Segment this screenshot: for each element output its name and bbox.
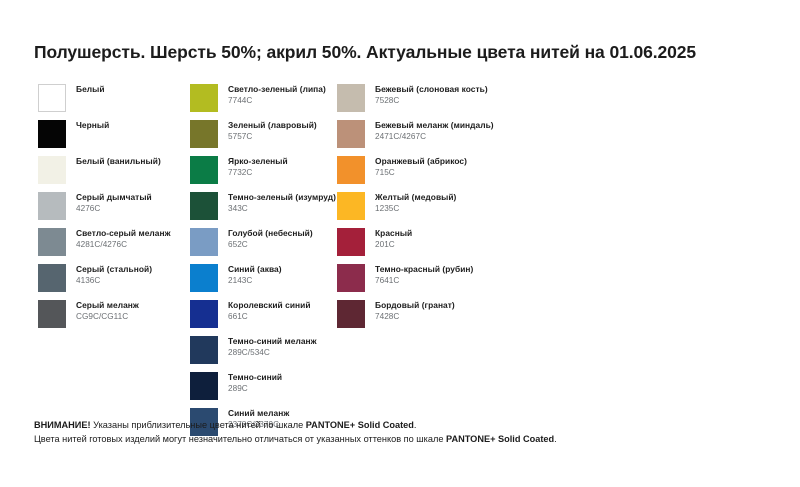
disclaimer-line-1-text: Указаны приблизительные цвета нитей по ш… (91, 420, 306, 430)
color-name: Белый (76, 85, 105, 95)
color-code: 289C/534C (228, 348, 317, 358)
color-labels: Королевский синий661C (228, 300, 311, 322)
color-code: 4136C (76, 276, 152, 286)
color-swatch (190, 156, 218, 184)
color-row: Бежевый (слоновая кость)7528C (337, 84, 494, 120)
page-title: Полушерсть. Шерсть 50%; акрил 50%. Актуа… (34, 42, 696, 63)
color-name: Желтый (медовый) (375, 193, 456, 203)
color-swatch (337, 264, 365, 292)
color-labels: Бежевый меланж (миндаль)2471C/4267C (375, 120, 494, 142)
color-name: Серый (стальной) (76, 265, 152, 275)
color-code: 7428C (375, 312, 455, 322)
color-row: Оранжевый (абрикос)715C (337, 156, 494, 192)
disclaimer-line-1: ВНИМАНИЕ! Указаны приблизительные цвета … (34, 418, 557, 432)
color-swatch (190, 192, 218, 220)
color-code: 7528C (375, 96, 488, 106)
color-labels: Черный (76, 120, 109, 131)
disclaimer: ВНИМАНИЕ! Указаны приблизительные цвета … (34, 418, 557, 447)
color-row: Темно-синий меланж289C/534C (190, 336, 336, 372)
color-code: 1235C (375, 204, 456, 214)
color-swatch (337, 300, 365, 328)
color-labels: Темно-зеленый (изумруд)343C (228, 192, 336, 214)
color-swatch (190, 120, 218, 148)
color-name: Бежевый (слоновая кость) (375, 85, 488, 95)
color-labels: Голубой (небесный)652C (228, 228, 313, 250)
color-row: Серый (стальной)4136C (38, 264, 171, 300)
color-row: Бордовый (гранат)7428C (337, 300, 494, 336)
color-labels: Бордовый (гранат)7428C (375, 300, 455, 322)
swatch-column-1: БелыйЧерныйБелый (ванильный)Серый дымчат… (38, 84, 171, 336)
color-swatch (38, 228, 66, 256)
color-name: Светло-зеленый (липа) (228, 85, 326, 95)
color-row: Темно-красный (рубин)7641C (337, 264, 494, 300)
color-swatch (337, 192, 365, 220)
disclaimer-line-1-end: . (414, 420, 417, 430)
color-code: 652C (228, 240, 313, 250)
color-code: 2471C/4267C (375, 132, 494, 142)
pantone-brand-2: PANTONE+ Solid Coated (446, 434, 554, 444)
color-name: Темно-зеленый (изумруд) (228, 193, 336, 203)
color-swatch (337, 156, 365, 184)
color-name: Королевский синий (228, 301, 311, 311)
color-row: Зеленый (лавровый)5757C (190, 120, 336, 156)
color-row: Белый (38, 84, 171, 120)
color-labels: Светло-серый меланж4281C/4276C (76, 228, 171, 250)
color-swatch (190, 264, 218, 292)
disclaimer-attention-label: ВНИМАНИЕ! (34, 420, 91, 430)
color-labels: Темно-синий289C (228, 372, 282, 394)
color-labels: Темно-красный (рубин)7641C (375, 264, 473, 286)
color-labels: Красный201C (375, 228, 412, 250)
color-code: 289C (228, 384, 282, 394)
color-row: Ярко-зеленый7732C (190, 156, 336, 192)
color-chart-page: Полушерсть. Шерсть 50%; акрил 50%. Актуа… (0, 0, 800, 487)
color-code: 661C (228, 312, 311, 322)
color-code: 7744C (228, 96, 326, 106)
color-name: Синий (аква) (228, 265, 282, 275)
color-swatch (38, 120, 66, 148)
color-name: Красный (375, 229, 412, 239)
color-row: Серый меланжCG9C/CG11C (38, 300, 171, 336)
color-code: 2143C (228, 276, 282, 286)
swatch-column-3: Бежевый (слоновая кость)7528CБежевый мел… (337, 84, 494, 336)
pantone-brand-1: PANTONE+ Solid Coated (306, 420, 414, 430)
color-labels: Серый (стальной)4136C (76, 264, 152, 286)
color-swatch (38, 84, 66, 112)
color-swatch (38, 192, 66, 220)
color-row: Светло-зеленый (липа)7744C (190, 84, 336, 120)
color-labels: Синий (аква)2143C (228, 264, 282, 286)
color-code: 715C (375, 168, 467, 178)
color-labels: Оранжевый (абрикос)715C (375, 156, 467, 178)
color-swatch (38, 156, 66, 184)
color-name: Светло-серый меланж (76, 229, 171, 239)
color-labels: Бежевый (слоновая кость)7528C (375, 84, 488, 106)
color-row: Бежевый меланж (миндаль)2471C/4267C (337, 120, 494, 156)
color-row: Темно-синий289C (190, 372, 336, 408)
color-labels: Серый меланжCG9C/CG11C (76, 300, 139, 322)
color-swatch (190, 300, 218, 328)
color-name: Бежевый меланж (миндаль) (375, 121, 494, 131)
color-code: 5757C (228, 132, 317, 142)
color-labels: Зеленый (лавровый)5757C (228, 120, 317, 142)
color-row: Красный201C (337, 228, 494, 264)
swatch-column-2: Светло-зеленый (липа)7744CЗеленый (лавро… (190, 84, 336, 444)
color-row: Синий (аква)2143C (190, 264, 336, 300)
color-row: Желтый (медовый)1235C (337, 192, 494, 228)
color-name: Зеленый (лавровый) (228, 121, 317, 131)
color-labels: Белый (ванильный) (76, 156, 161, 167)
color-row: Королевский синий661C (190, 300, 336, 336)
color-name: Темно-красный (рубин) (375, 265, 473, 275)
color-name: Бордовый (гранат) (375, 301, 455, 311)
color-swatch (337, 120, 365, 148)
disclaimer-line-2: Цвета нитей готовых изделий могут незнач… (34, 432, 557, 446)
color-labels: Серый дымчатый4276C (76, 192, 152, 214)
color-name: Темно-синий меланж (228, 337, 317, 347)
color-code: 343C (228, 204, 336, 214)
color-row: Серый дымчатый4276C (38, 192, 171, 228)
color-row: Светло-серый меланж4281C/4276C (38, 228, 171, 264)
color-labels: Желтый (медовый)1235C (375, 192, 456, 214)
color-row: Темно-зеленый (изумруд)343C (190, 192, 336, 228)
color-row: Черный (38, 120, 171, 156)
color-row: Белый (ванильный) (38, 156, 171, 192)
color-code: CG9C/CG11C (76, 312, 139, 322)
color-swatch (190, 372, 218, 400)
color-swatch (38, 300, 66, 328)
color-name: Белый (ванильный) (76, 157, 161, 167)
disclaimer-line-2-text: Цвета нитей готовых изделий могут незнач… (34, 434, 446, 444)
color-swatch (337, 84, 365, 112)
color-labels: Темно-синий меланж289C/534C (228, 336, 317, 358)
color-code: 4276C (76, 204, 152, 214)
color-name: Серый меланж (76, 301, 139, 311)
color-code: 7732C (228, 168, 288, 178)
color-swatch (337, 228, 365, 256)
color-name: Оранжевый (абрикос) (375, 157, 467, 167)
color-swatch (190, 336, 218, 364)
color-swatch (190, 84, 218, 112)
color-labels: Белый (76, 84, 105, 95)
color-labels: Ярко-зеленый7732C (228, 156, 288, 178)
color-row: Голубой (небесный)652C (190, 228, 336, 264)
color-labels: Светло-зеленый (липа)7744C (228, 84, 326, 106)
color-name: Серый дымчатый (76, 193, 152, 203)
color-name: Темно-синий (228, 373, 282, 383)
color-code: 201C (375, 240, 412, 250)
color-name: Ярко-зеленый (228, 157, 288, 167)
color-code: 4281C/4276C (76, 240, 171, 250)
color-name: Голубой (небесный) (228, 229, 313, 239)
color-code: 7641C (375, 276, 473, 286)
color-name: Черный (76, 121, 109, 131)
color-swatch (38, 264, 66, 292)
disclaimer-line-2-end: . (554, 434, 557, 444)
color-swatch (190, 228, 218, 256)
